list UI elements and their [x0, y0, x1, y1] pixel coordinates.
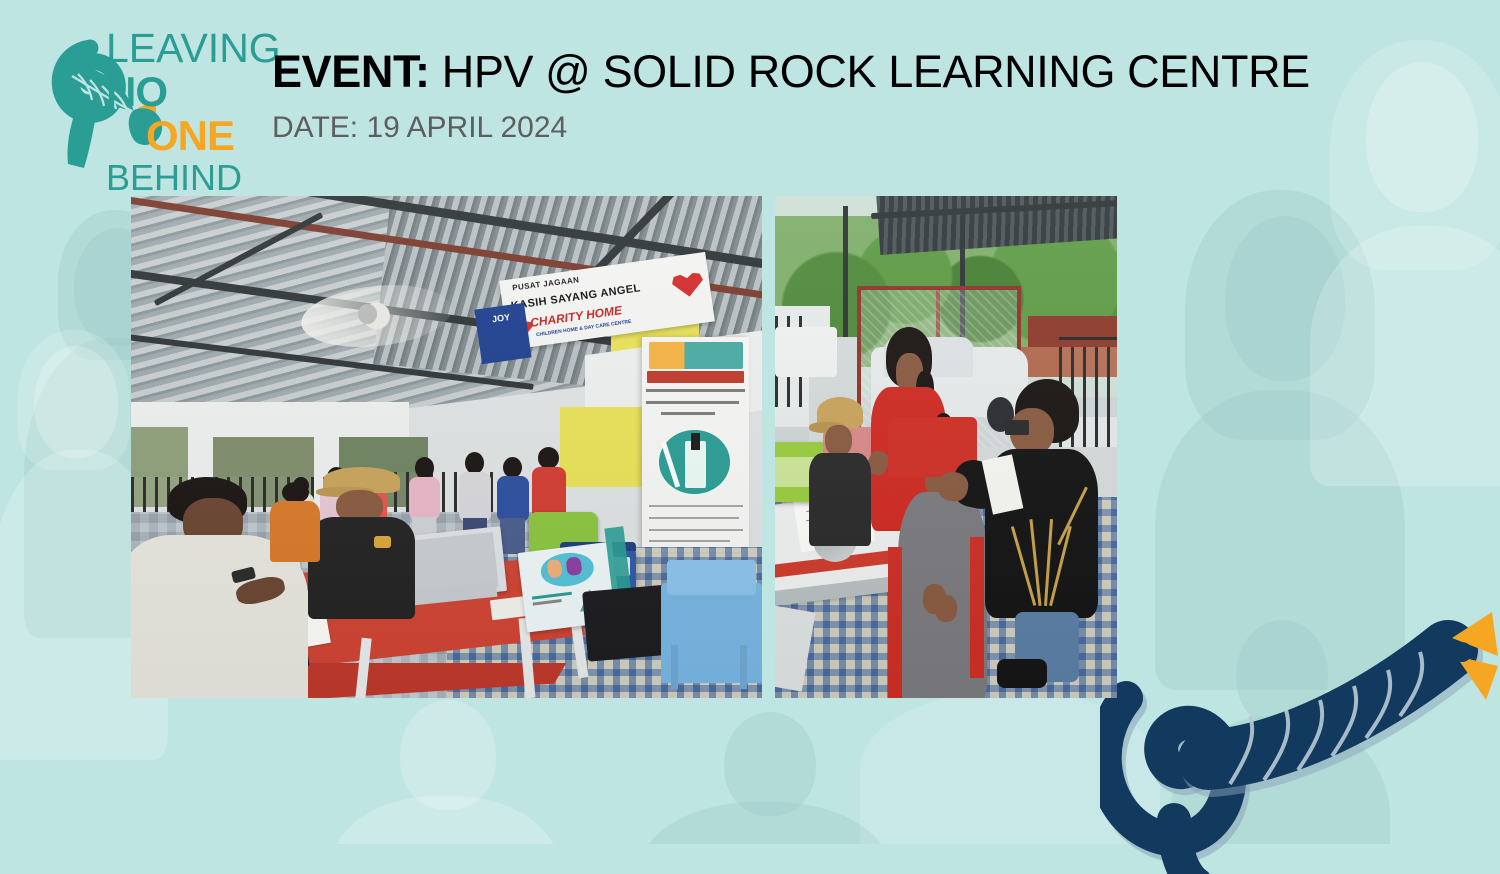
person-nurse — [980, 397, 1103, 688]
event-photo-left: PUSAT JAGAAN KASIH SAYANG ANGEL CHARITY … — [131, 196, 762, 698]
person-with-cap — [809, 397, 871, 538]
leaving-no-one-behind-logo: LEAVING NO ONE BEHIND — [38, 30, 253, 180]
people-silhouette-watermark — [640, 712, 890, 844]
people-silhouette-watermark — [1170, 620, 1390, 844]
header: LEAVING NO ONE BEHIND EVENT: HPV @ SOLID… — [0, 0, 1500, 190]
date-value: 19 APRIL 2024 — [366, 111, 567, 144]
event-label: EVENT: — [272, 46, 430, 97]
title-block: EVENT: HPV @ SOLID ROCK LEARNING CENTRE … — [272, 48, 1310, 145]
photo-left-scene: PUSAT JAGAAN KASIH SAYANG ANGEL CHARITY … — [131, 196, 762, 698]
watermark-shape — [860, 690, 1160, 844]
logo-line-behind: BEHIND — [106, 160, 281, 196]
person-background — [270, 482, 320, 562]
date-label: DATE: — [272, 111, 358, 144]
logo-line-leaving: LEAVING — [106, 28, 281, 69]
event-date: DATE: 19 APRIL 2024 — [272, 111, 1310, 145]
photo-right-scene — [775, 196, 1117, 698]
joy-sign: JOY — [474, 303, 532, 365]
logo-line-one: ONE — [146, 115, 281, 157]
people-silhouette-watermark — [330, 700, 560, 844]
event-name: HPV @ SOLID ROCK LEARNING CENTRE — [442, 46, 1310, 97]
page-title: EVENT: HPV @ SOLID ROCK LEARNING CENTRE — [272, 48, 1310, 97]
event-photo-right — [775, 196, 1117, 698]
person-with-cap — [308, 467, 415, 618]
person-background — [497, 457, 529, 552]
logo-line-no: NO — [106, 71, 281, 113]
blue-plastic-chair — [661, 583, 762, 683]
